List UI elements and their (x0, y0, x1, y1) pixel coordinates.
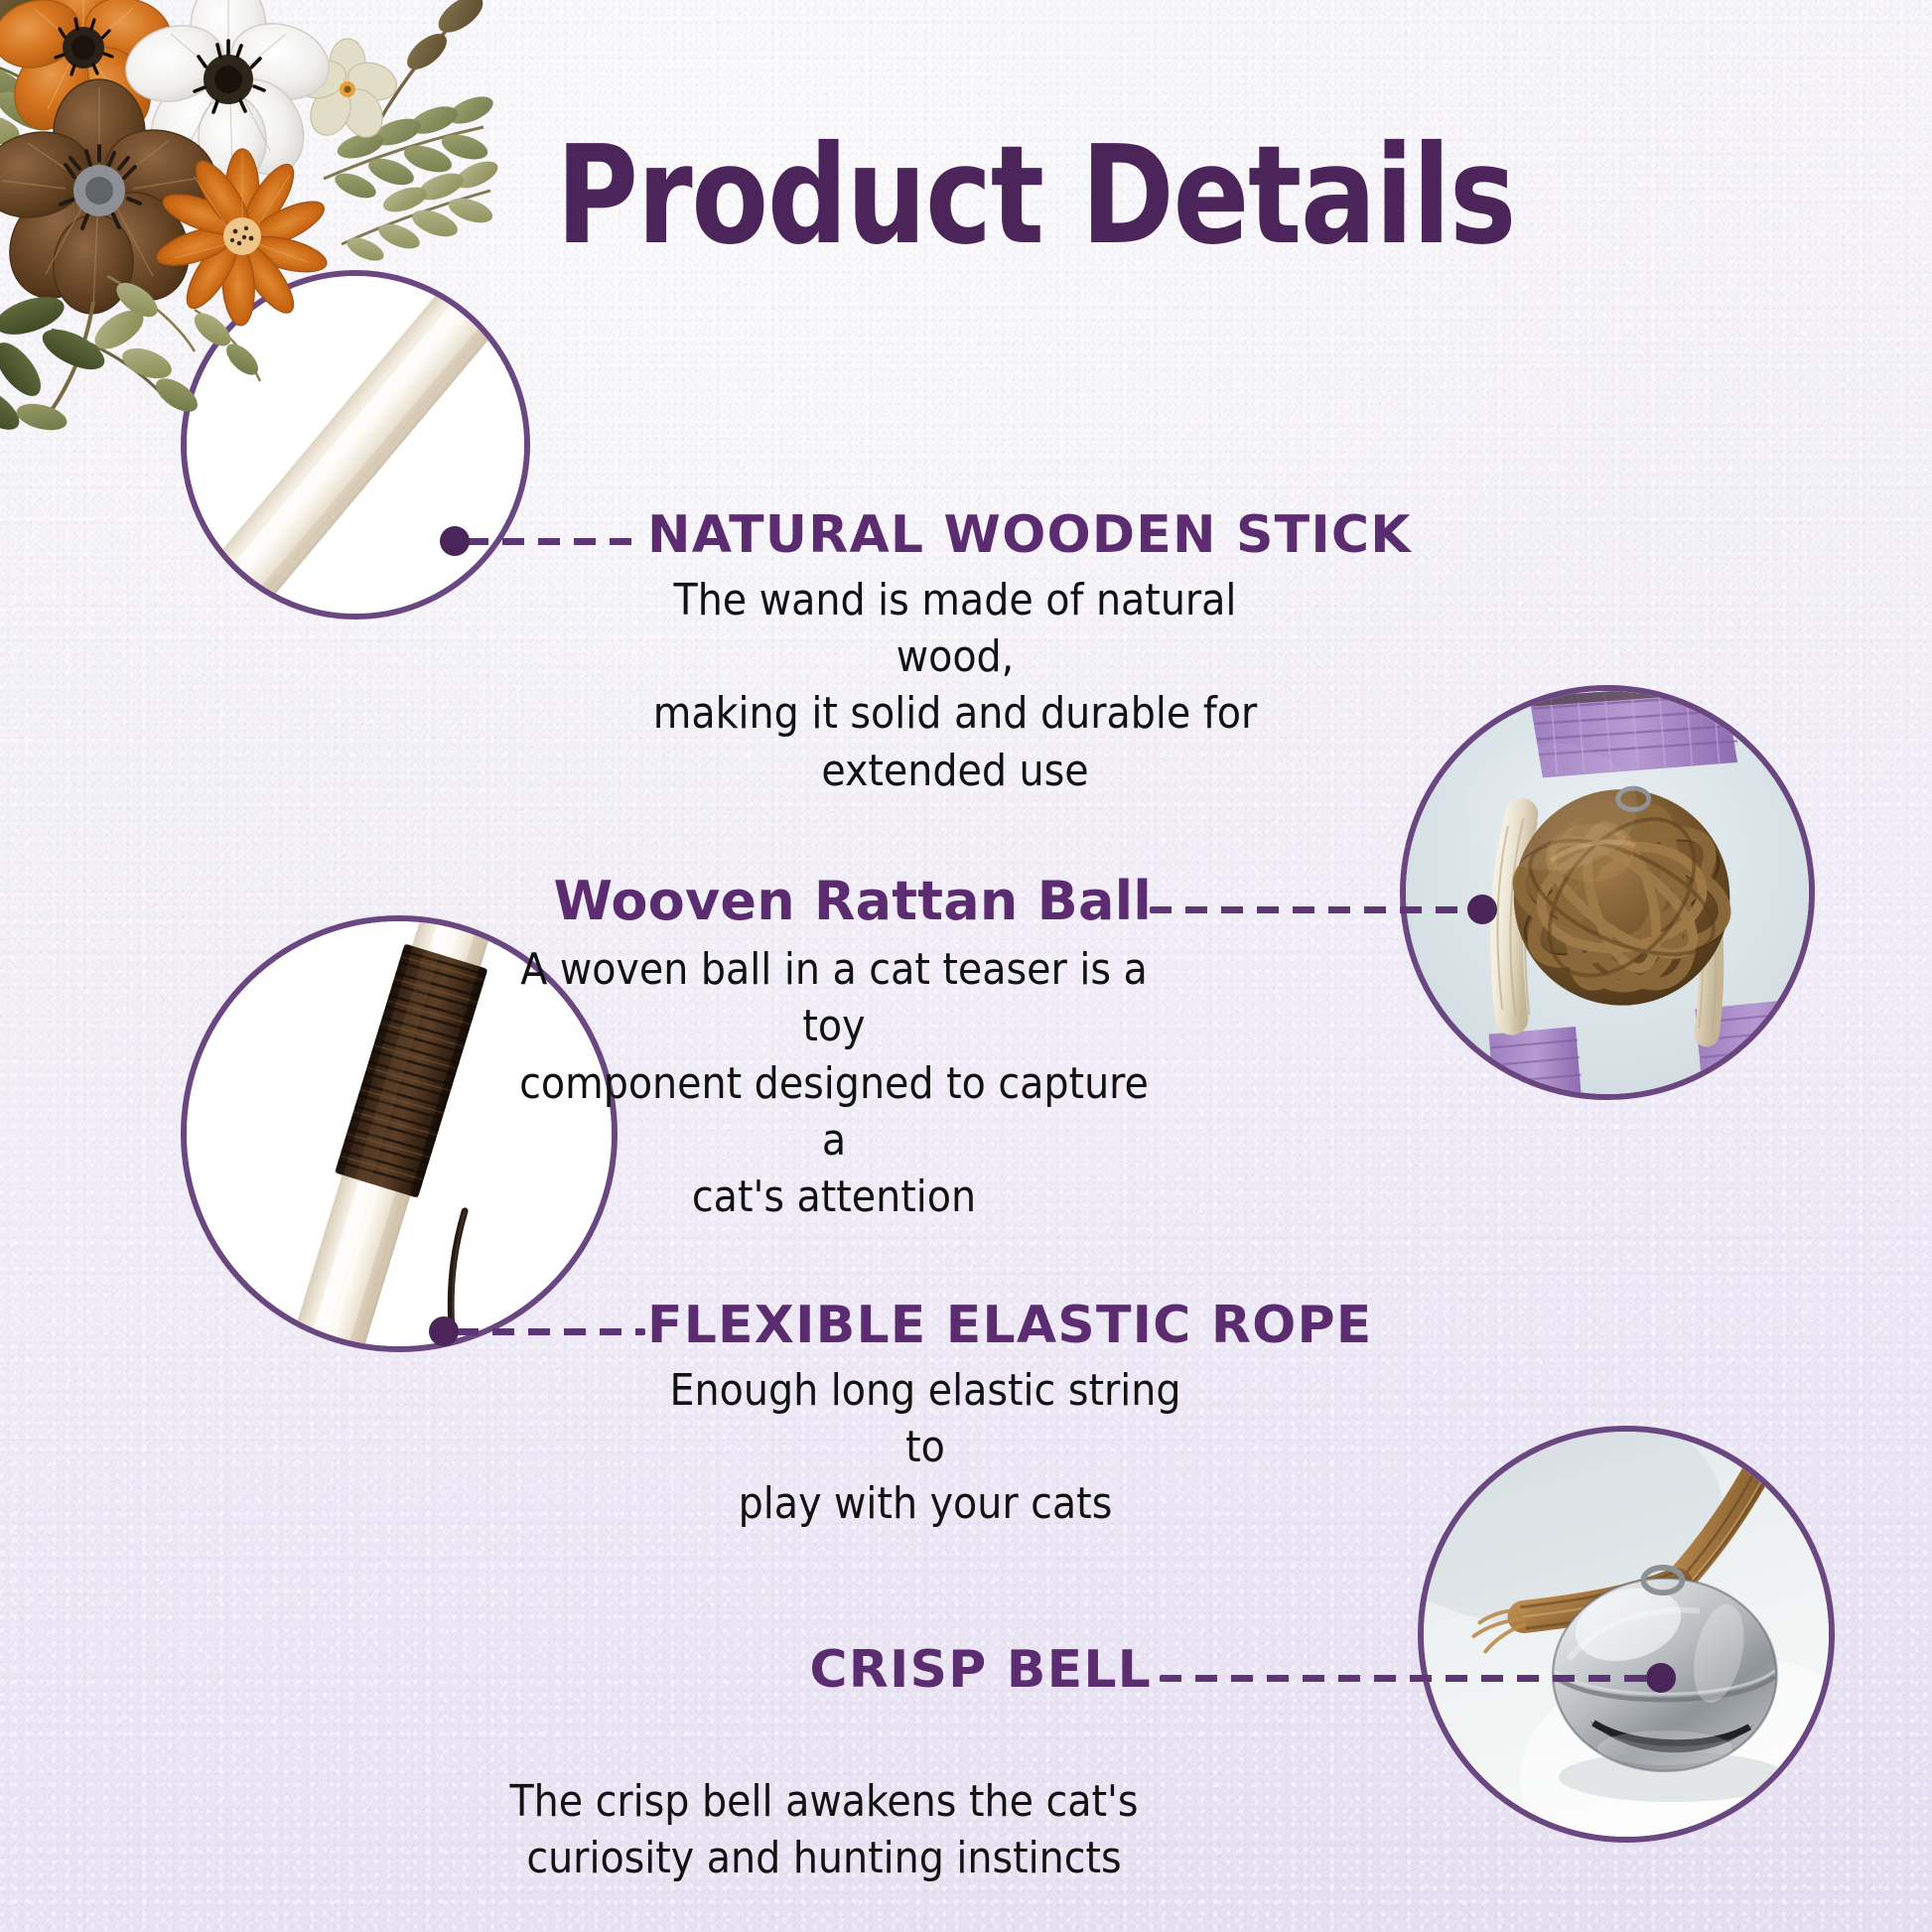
feature-body-block-crisp-bell: The crisp bell awakens the cat's curiosi… (486, 1773, 1162, 1886)
leaf-cluster-upper-left (0, 0, 115, 149)
connector-dot-crisp-bell (1646, 1663, 1676, 1693)
feature-heading-crisp-bell: CRISP BELL (516, 1643, 1152, 1697)
feature-block-rattan-ball: Wooven Rattan Ball A woven ball in a cat… (516, 874, 1152, 1225)
feature-heading-elastic-rope: FLEXIBLE ELASTIC ROPE (647, 1299, 1263, 1352)
connector-dot-wooden-stick (440, 526, 470, 556)
connector-line-crisp-bell (1160, 1675, 1656, 1682)
orange-anemone (0, 0, 179, 144)
connector-line-elastic-rope (457, 1328, 645, 1335)
feature-block-elastic-rope: FLEXIBLE ELASTIC ROPE Enough long elasti… (647, 1299, 1263, 1533)
feature-body-elastic-rope: Enough long elastic string to play with … (647, 1362, 1203, 1533)
page-title: Product Details (556, 127, 1524, 266)
branch-right (324, 0, 498, 265)
feature-body-rattan-ball: A woven ball in a cat teaser is a toy co… (516, 941, 1152, 1225)
feature-body-crisp-bell: The crisp bell awakens the cat's curiosi… (486, 1773, 1162, 1886)
leaf-trail-lower (0, 276, 204, 438)
feature-heading-wooden-stick: NATURAL WOODEN STICK (647, 508, 1263, 562)
feature-heading-rattan-ball: Wooven Rattan Ball (516, 874, 1152, 929)
feature-block-wooden-stick: NATURAL WOODEN STICK The wand is made of… (647, 508, 1263, 799)
feature-body-wooden-stick: The wand is made of natural wood, making… (647, 572, 1263, 799)
white-anemone (117, 0, 339, 189)
wooden-stick-photo (181, 270, 530, 620)
crisp-bell-photo (1418, 1426, 1835, 1843)
cream-blossom (293, 39, 402, 144)
brown-poppy (0, 79, 224, 421)
connector-line-rattan-ball (1150, 906, 1477, 913)
infographic-page: Product Details NATURAL WOODEN STICK The… (0, 0, 1932, 1932)
connector-dot-elastic-rope (429, 1316, 459, 1346)
feature-block-crisp-bell: CRISP BELL (516, 1643, 1152, 1697)
rattan-ball-photo (1400, 685, 1815, 1100)
connector-dot-rattan-ball (1467, 895, 1497, 924)
connector-line-wooden-stick (467, 538, 645, 545)
